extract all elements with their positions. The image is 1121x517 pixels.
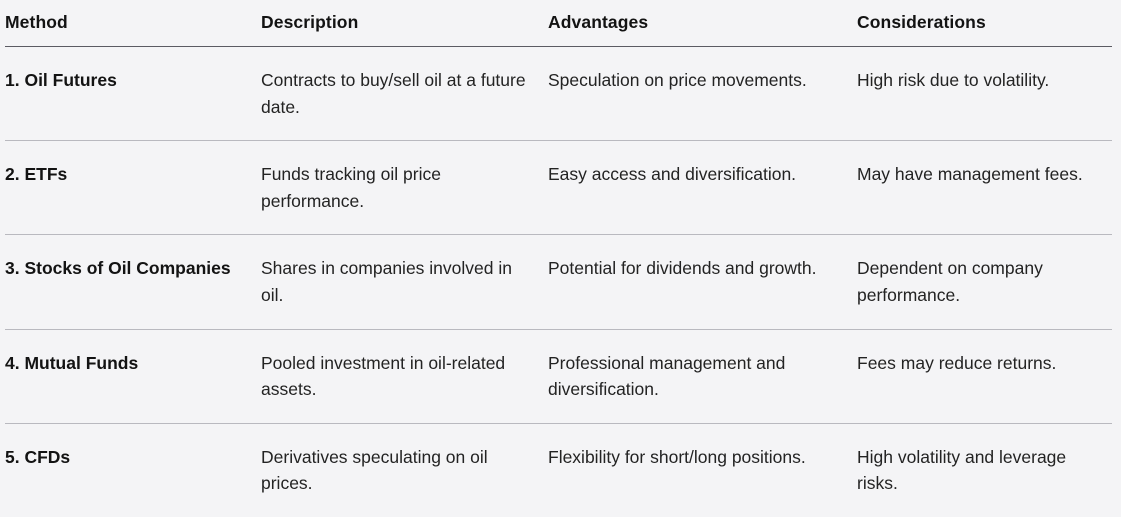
table-row: 4. Mutual Funds Pooled investment in oil… (5, 329, 1112, 423)
cell-considerations: High risk due to volatility. (857, 47, 1112, 141)
cell-description: Shares in companies involved in oil. (261, 235, 548, 329)
column-header-description: Description (261, 0, 548, 47)
table-body: 1. Oil Futures Contracts to buy/sell oil… (5, 47, 1112, 517)
cell-advantages: Professional management and diversificat… (548, 329, 857, 423)
column-header-advantages: Advantages (548, 0, 857, 47)
oil-investment-methods-table: Method Description Advantages Considerat… (5, 0, 1112, 517)
table-container: Method Description Advantages Considerat… (0, 0, 1121, 489)
table-header: Method Description Advantages Considerat… (5, 0, 1112, 47)
column-header-method: Method (5, 0, 261, 47)
cell-description: Funds tracking oil price performance. (261, 141, 548, 235)
column-header-considerations: Considerations (857, 0, 1112, 47)
cell-method: 1. Oil Futures (5, 47, 261, 141)
table-row: 2. ETFs Funds tracking oil price perform… (5, 141, 1112, 235)
table-row: 3. Stocks of Oil Companies Shares in com… (5, 235, 1112, 329)
cell-advantages: Flexibility for short/long positions. (548, 423, 857, 517)
cell-advantages: Easy access and diversification. (548, 141, 857, 235)
cell-description: Pooled investment in oil-related assets. (261, 329, 548, 423)
cell-considerations: High volatility and leverage risks. (857, 423, 1112, 517)
cell-considerations: Fees may reduce returns. (857, 329, 1112, 423)
cell-description: Derivatives speculating on oil prices. (261, 423, 548, 517)
cell-method: 4. Mutual Funds (5, 329, 261, 423)
cell-advantages: Speculation on price movements. (548, 47, 857, 141)
table-row: 5. CFDs Derivatives speculating on oil p… (5, 423, 1112, 517)
header-row: Method Description Advantages Considerat… (5, 0, 1112, 47)
cell-method: 3. Stocks of Oil Companies (5, 235, 261, 329)
table-row: 1. Oil Futures Contracts to buy/sell oil… (5, 47, 1112, 141)
cell-considerations: May have management fees. (857, 141, 1112, 235)
cell-considerations: Dependent on company performance. (857, 235, 1112, 329)
cell-method: 5. CFDs (5, 423, 261, 517)
cell-method: 2. ETFs (5, 141, 261, 235)
cell-description: Contracts to buy/sell oil at a future da… (261, 47, 548, 141)
cell-advantages: Potential for dividends and growth. (548, 235, 857, 329)
